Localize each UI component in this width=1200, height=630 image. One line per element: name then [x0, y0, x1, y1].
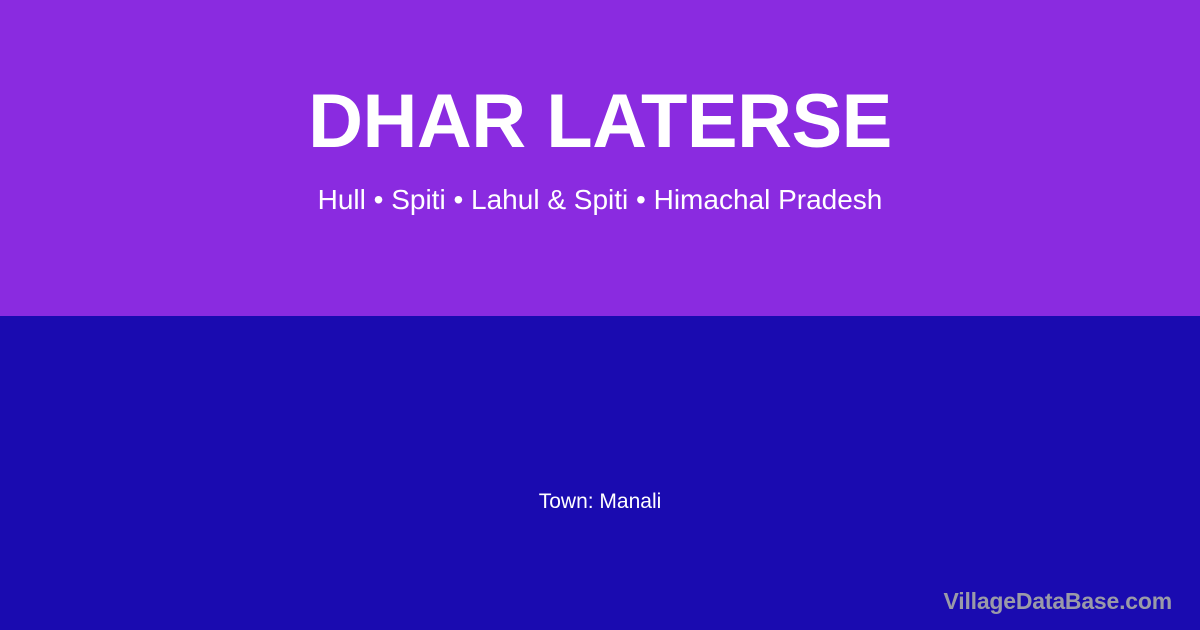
page-title: DHAR LATERSE [0, 84, 1200, 160]
village-info-card: DHAR LATERSE Hull • Spiti • Lahul & Spit… [0, 0, 1200, 630]
town-detail: Town: Manali [0, 489, 1200, 514]
body-band: Town: Manali [0, 316, 1200, 630]
site-watermark: VillageDataBase.com [944, 588, 1172, 616]
breadcrumb: Hull • Spiti • Lahul & Spiti • Himachal … [0, 160, 1200, 217]
hero-content: DHAR LATERSE Hull • Spiti • Lahul & Spit… [0, 0, 1200, 217]
hero-band: DHAR LATERSE Hull • Spiti • Lahul & Spit… [0, 0, 1200, 316]
